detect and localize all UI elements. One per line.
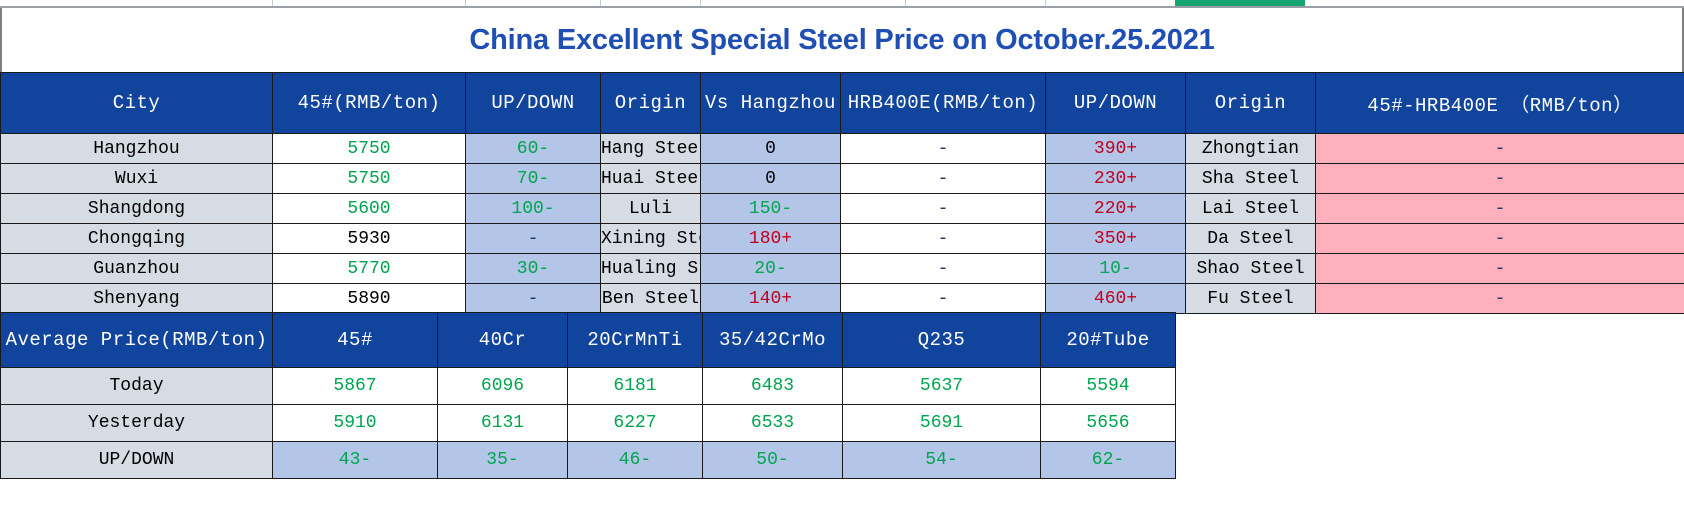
spreadsheet-column-strip <box>0 0 1684 8</box>
column-divider <box>1045 0 1046 6</box>
header-vs-hangzhou: Vs Hangzhou <box>701 73 841 134</box>
avg-cell: 6227 <box>568 405 703 442</box>
cell-diff: - <box>1316 224 1684 254</box>
cell-hrb400e: - <box>841 284 1046 314</box>
avg-cell: 43- <box>273 442 438 479</box>
cell-updown-45: 30- <box>466 254 601 284</box>
cell-hrb400e: - <box>841 224 1046 254</box>
avg-cell: 6483 <box>703 368 843 405</box>
column-divider <box>905 0 906 6</box>
cell-origin-45: Ben Steel <box>601 284 701 314</box>
cell-hrb400e: - <box>841 164 1046 194</box>
cell-diff: - <box>1316 284 1684 314</box>
avg-cell: 54- <box>843 442 1041 479</box>
avg-cell: 46- <box>568 442 703 479</box>
cell-vs-hangzhou: 180+ <box>701 224 841 254</box>
table-row: Shangdong 5600 100- Luli 150- - 220+ Lai… <box>1 194 1684 224</box>
selected-column-highlight <box>1175 0 1305 6</box>
header-20crmnti: 20CrMnTi <box>568 313 703 368</box>
city-price-table: City 45#(RMB/ton) UP/DOWN Origin Vs Hang… <box>0 72 1684 314</box>
cell-origin-45: Luli <box>601 194 701 224</box>
header-price-45: 45#(RMB/ton) <box>273 73 466 134</box>
cell-vs-hangzhou: 0 <box>701 164 841 194</box>
cell-origin-hrb: Lai Steel <box>1186 194 1316 224</box>
cell-updown-45: 60- <box>466 134 601 164</box>
cell-origin-hrb: Fu Steel <box>1186 284 1316 314</box>
avg-cell: 6096 <box>438 368 568 405</box>
cell-hrb400e: - <box>841 194 1046 224</box>
header-origin-hrb: Origin <box>1186 73 1316 134</box>
cell-origin-45: Xining Steel <box>601 224 701 254</box>
cell-origin-45-text: Hualing Steel <box>601 259 701 279</box>
cell-updown-hrb: 350+ <box>1046 224 1186 254</box>
cell-vs-hangzhou: 20- <box>701 254 841 284</box>
cell-city: Shangdong <box>1 194 273 224</box>
header-origin-45: Origin <box>601 73 701 134</box>
cell-updown-hrb: 220+ <box>1046 194 1186 224</box>
avg-cell: 6131 <box>438 405 568 442</box>
cell-hrb400e: - <box>841 254 1046 284</box>
avg-cell: 5656 <box>1041 405 1176 442</box>
cell-price-45: 5890 <box>273 284 466 314</box>
avg-header-row: Average Price(RMB/ton) 45# 40Cr 20CrMnTi… <box>1 313 1176 368</box>
cell-diff: - <box>1316 134 1684 164</box>
cell-updown-45: 70- <box>466 164 601 194</box>
cell-updown-45: - <box>466 224 601 254</box>
table-row: Shenyang 5890 - Ben Steel 140+ - 460+ Fu… <box>1 284 1684 314</box>
row-label: Yesterday <box>1 405 273 442</box>
cell-hrb400e: - <box>841 134 1046 164</box>
header-hrb400e: HRB400E(RMB/ton) <box>841 73 1046 134</box>
cell-updown-hrb: 230+ <box>1046 164 1186 194</box>
cell-price-45: 5770 <box>273 254 466 284</box>
cell-diff: - <box>1316 164 1684 194</box>
cell-updown-45: - <box>466 284 601 314</box>
column-divider <box>600 0 601 6</box>
cell-city: Hangzhou <box>1 134 273 164</box>
avg-row-updown: UP/DOWN 43- 35- 46- 50- 54- 62- <box>1 442 1176 479</box>
column-divider <box>465 0 466 6</box>
cell-origin-45: Hualing Steel <box>601 254 701 284</box>
cell-city: Guanzhou <box>1 254 273 284</box>
cell-vs-hangzhou: 150- <box>701 194 841 224</box>
cell-updown-45: 100- <box>466 194 601 224</box>
cell-origin-hrb: Zhongtian <box>1186 134 1316 164</box>
cell-diff: - <box>1316 254 1684 284</box>
avg-cell: 35- <box>438 442 568 479</box>
table-header-row: City 45#(RMB/ton) UP/DOWN Origin Vs Hang… <box>1 73 1684 134</box>
header-city: City <box>1 73 273 134</box>
avg-row-yesterday: Yesterday 5910 6131 6227 6533 5691 5656 <box>1 405 1176 442</box>
cell-updown-hrb: 390+ <box>1046 134 1186 164</box>
cell-updown-hrb: 460+ <box>1046 284 1186 314</box>
avg-cell: 62- <box>1041 442 1176 479</box>
cell-price-45: 5930 <box>273 224 466 254</box>
cell-updown-hrb: 10- <box>1046 254 1186 284</box>
cell-origin-hrb: Da Steel <box>1186 224 1316 254</box>
table-row: Wuxi 5750 70- Huai Steel 0 - 230+ Sha St… <box>1 164 1684 194</box>
cell-diff: - <box>1316 194 1684 224</box>
row-label: Today <box>1 368 273 405</box>
cell-price-45: 5600 <box>273 194 466 224</box>
cell-city: Shenyang <box>1 284 273 314</box>
header-diff: 45#-HRB400E （RMB/ton） <box>1316 73 1684 134</box>
header-average-price: Average Price(RMB/ton) <box>1 313 273 368</box>
column-divider <box>700 0 701 6</box>
cell-vs-hangzhou: 140+ <box>701 284 841 314</box>
average-price-table: Average Price(RMB/ton) 45# 40Cr 20CrMnTi… <box>0 312 1176 479</box>
cell-origin-45: Huai Steel <box>601 164 701 194</box>
avg-cell: 50- <box>703 442 843 479</box>
avg-row-today: Today 5867 6096 6181 6483 5637 5594 <box>1 368 1176 405</box>
avg-cell: 5594 <box>1041 368 1176 405</box>
header-q235: Q235 <box>843 313 1041 368</box>
cell-city: Wuxi <box>1 164 273 194</box>
cell-price-45: 5750 <box>273 164 466 194</box>
title-band: China Excellent Special Steel Price on O… <box>0 8 1684 72</box>
avg-cell: 5691 <box>843 405 1041 442</box>
cell-origin-hrb: Shao Steel <box>1186 254 1316 284</box>
table-row: Guanzhou 5770 30- Hualing Steel 20- - 10… <box>1 254 1684 284</box>
header-updown-45: UP/DOWN <box>466 73 601 134</box>
header-20tube: 20#Tube <box>1041 313 1176 368</box>
table-row: Hangzhou 5750 60- Hang Steel 0 - 390+ Zh… <box>1 134 1684 164</box>
cell-vs-hangzhou: 0 <box>701 134 841 164</box>
header-45: 45# <box>273 313 438 368</box>
header-updown-hrb: UP/DOWN <box>1046 73 1186 134</box>
table-row: Chongqing 5930 - Xining Steel 180+ - 350… <box>1 224 1684 254</box>
column-divider <box>272 0 273 6</box>
header-40cr: 40Cr <box>438 313 568 368</box>
header-35-42crmo: 35/42CrMo <box>703 313 843 368</box>
page-title: China Excellent Special Steel Price on O… <box>469 24 1214 57</box>
cell-origin-45: Hang Steel <box>601 134 701 164</box>
avg-cell: 5910 <box>273 405 438 442</box>
cell-price-45: 5750 <box>273 134 466 164</box>
avg-cell: 5867 <box>273 368 438 405</box>
row-label: UP/DOWN <box>1 442 273 479</box>
cell-origin-hrb: Sha Steel <box>1186 164 1316 194</box>
avg-cell: 6533 <box>703 405 843 442</box>
avg-cell: 5637 <box>843 368 1041 405</box>
avg-cell: 6181 <box>568 368 703 405</box>
cell-city: Chongqing <box>1 224 273 254</box>
